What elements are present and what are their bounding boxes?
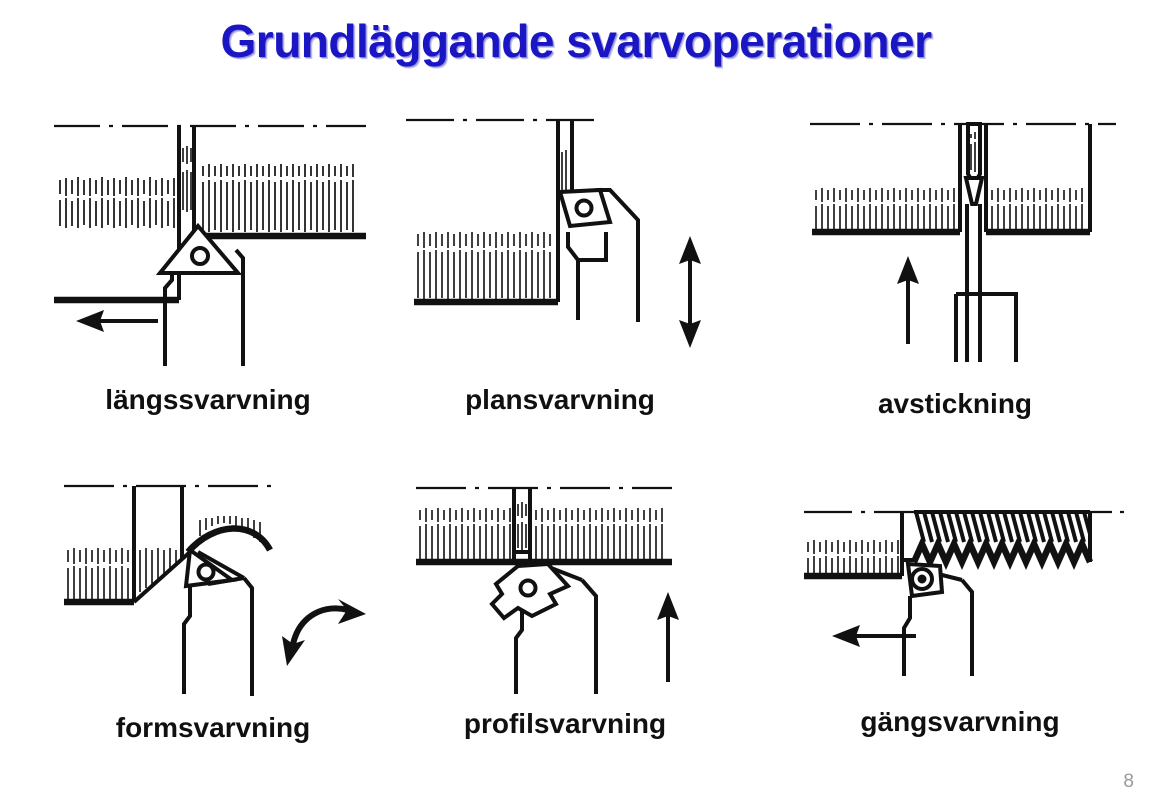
figure-plansvarvning xyxy=(400,112,720,362)
tool-shank-right xyxy=(582,580,596,694)
figure-formsvarvning xyxy=(48,468,378,708)
formsvarvning-drawing xyxy=(48,468,378,708)
figure-caption-langssvarvning: längssvarvning xyxy=(48,384,368,416)
parting-insert xyxy=(966,178,982,204)
tool-shank-inner xyxy=(568,232,578,320)
hatching-left xyxy=(68,548,128,600)
langssvarvning-drawing xyxy=(48,118,368,368)
tool-shank-left xyxy=(165,268,172,366)
tool-shank-left xyxy=(516,608,522,694)
plansvarvning-drawing xyxy=(400,112,720,362)
figure-profilsvarvning xyxy=(400,468,730,708)
rhombic-insert xyxy=(560,190,610,226)
insert-hole xyxy=(918,575,927,584)
page-title: Grundläggande svarvoperationer xyxy=(0,14,1152,68)
figure-caption-avstickning: avstickning xyxy=(790,388,1120,420)
tool-shank-right xyxy=(244,578,252,696)
hatching xyxy=(418,232,550,300)
figure-caption-plansvarvning: plansvarvning xyxy=(400,384,720,416)
feed-arrow-curved-double xyxy=(282,599,366,666)
figure-caption-formsvarvning: formsvarvning xyxy=(48,712,378,744)
avstickning-drawing xyxy=(790,112,1120,372)
hatching-right xyxy=(203,164,353,232)
figure-caption-profilsvarvning: profilsvarvning xyxy=(400,708,730,740)
profilsvarvning-drawing xyxy=(400,468,730,708)
thread-profile xyxy=(914,512,1090,562)
figure-gangsvarvning xyxy=(790,478,1130,698)
feed-arrow-vertical-double xyxy=(679,236,701,348)
hatching xyxy=(808,540,898,575)
tool-shank-right xyxy=(962,580,972,676)
hatching-face xyxy=(562,150,566,194)
hatching-left xyxy=(60,177,174,228)
figure-avstickning xyxy=(790,112,1120,372)
tool-shank-step xyxy=(578,232,606,260)
profile-insert xyxy=(492,564,568,618)
hatching-left xyxy=(816,188,954,230)
figure-caption-gangsvarvning: gängsvarvning xyxy=(790,706,1130,738)
hatching-taper xyxy=(140,548,176,592)
gangsvarvning-drawing xyxy=(790,478,1130,698)
feed-arrow-up xyxy=(657,592,679,682)
feed-arrow-left xyxy=(76,310,158,332)
hatching-shoulder xyxy=(183,146,191,212)
figure-langssvarvning xyxy=(48,118,368,368)
tool-shank-left xyxy=(184,584,190,694)
hatching-left xyxy=(420,508,510,560)
tool-shank-right xyxy=(236,250,243,366)
hatching-groove xyxy=(518,502,526,550)
workpiece-taper xyxy=(134,552,190,602)
feed-arrow-up xyxy=(897,256,919,344)
page-number: 8 xyxy=(1123,771,1134,793)
hatching-right xyxy=(536,508,662,560)
hatching-right xyxy=(992,188,1082,230)
